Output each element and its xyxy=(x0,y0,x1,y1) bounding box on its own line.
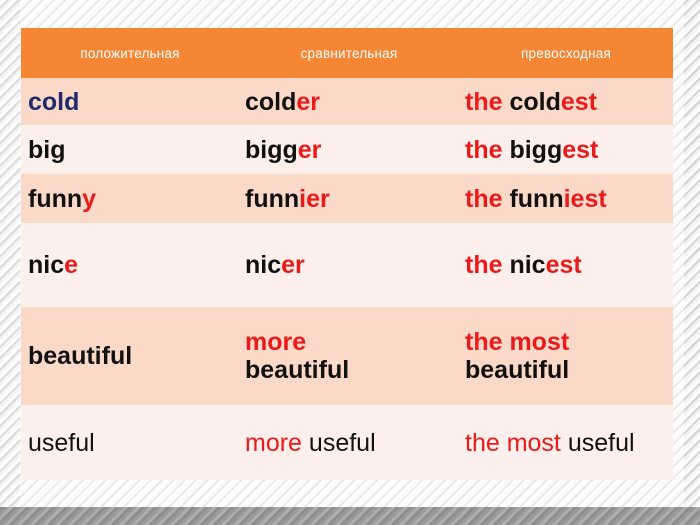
word-stem: useful xyxy=(28,429,95,457)
degree-marker: the most xyxy=(465,429,561,457)
word-stem: funn xyxy=(28,185,82,213)
word-stem: big xyxy=(28,136,66,164)
cell-positive: beautiful xyxy=(21,307,239,405)
word-suffix: iest xyxy=(564,185,607,213)
cell-superlative: the biggest xyxy=(459,125,673,174)
word-stem: bigg xyxy=(245,136,298,164)
word-stem: nic xyxy=(245,251,281,279)
word-base: useful xyxy=(568,429,635,457)
word-suffix: er xyxy=(281,251,305,279)
table-row: useful more useful the most useful xyxy=(21,405,673,480)
background-stripes-right xyxy=(684,0,700,525)
cell-superlative: the funniest xyxy=(459,174,673,223)
header-row: положительная сравнительная превосходная xyxy=(21,28,673,78)
cell-positive: nice xyxy=(21,223,239,307)
header-superlative: превосходная xyxy=(459,28,673,78)
table-row: nice nicer the nicest xyxy=(21,223,673,307)
cell-superlative: the mostbeautiful xyxy=(459,307,673,405)
word-space xyxy=(561,429,568,457)
word-stem: cold xyxy=(245,88,296,116)
cell-comparative: funnier xyxy=(239,174,459,223)
adjective-degrees-table: положительная сравнительная превосходная… xyxy=(21,28,673,480)
table-row: big bigger the biggest xyxy=(21,125,673,174)
degree-marker: more xyxy=(245,328,306,356)
word-stem: bigg xyxy=(509,136,562,164)
word-stem: beautiful xyxy=(28,342,132,370)
word-stem: nic xyxy=(509,251,545,279)
cell-comparative: morebeautiful xyxy=(239,307,459,405)
word-stem: funn xyxy=(245,185,299,213)
word-space xyxy=(302,429,309,457)
word-base: useful xyxy=(309,429,376,457)
word-suffix: er xyxy=(298,136,322,164)
word-suffix: er xyxy=(296,88,320,116)
word-article: the xyxy=(465,88,509,116)
cell-superlative: the coldest xyxy=(459,78,673,125)
word-stem: cold xyxy=(28,88,79,116)
table-body: cold colder the coldest big bigger the b… xyxy=(21,78,673,480)
cell-comparative: bigger xyxy=(239,125,459,174)
background-stripes-bottom xyxy=(0,507,700,525)
word-suffix: ier xyxy=(299,185,330,213)
degree-marker: more xyxy=(245,429,302,457)
word-suffix: est xyxy=(561,88,597,116)
cell-positive: useful xyxy=(21,405,239,480)
table-row: cold colder the coldest xyxy=(21,78,673,125)
header-comparative: сравнительная xyxy=(239,28,459,78)
cell-superlative: the most useful xyxy=(459,405,673,480)
degree-marker: the most xyxy=(465,328,569,356)
background-stripes-left xyxy=(0,0,20,525)
word-suffix: est xyxy=(562,136,598,164)
slide-canvas: положительная сравнительная превосходная… xyxy=(0,0,700,525)
table-row: funny funnier the funniest xyxy=(21,174,673,223)
cell-comparative: colder xyxy=(239,78,459,125)
cell-positive: big xyxy=(21,125,239,174)
word-suffix: y xyxy=(82,185,96,213)
cell-comparative: more useful xyxy=(239,405,459,480)
word-stem: cold xyxy=(509,88,560,116)
table-header: положительная сравнительная превосходная xyxy=(21,28,673,78)
table-row: beautiful morebeautiful the mostbeautifu… xyxy=(21,307,673,405)
cell-comparative: nicer xyxy=(239,223,459,307)
word-base: beautiful xyxy=(465,356,569,384)
word-stem: nic xyxy=(28,251,64,279)
word-suffix: est xyxy=(546,251,582,279)
word-article: the xyxy=(465,251,509,279)
word-stem: funn xyxy=(509,185,563,213)
word-article: the xyxy=(465,185,509,213)
word-suffix: e xyxy=(64,251,78,279)
cell-superlative: the nicest xyxy=(459,223,673,307)
cell-positive: funny xyxy=(21,174,239,223)
word-base: beautiful xyxy=(245,356,349,384)
header-positive: положительная xyxy=(21,28,239,78)
word-article: the xyxy=(465,136,509,164)
cell-positive: cold xyxy=(21,78,239,125)
